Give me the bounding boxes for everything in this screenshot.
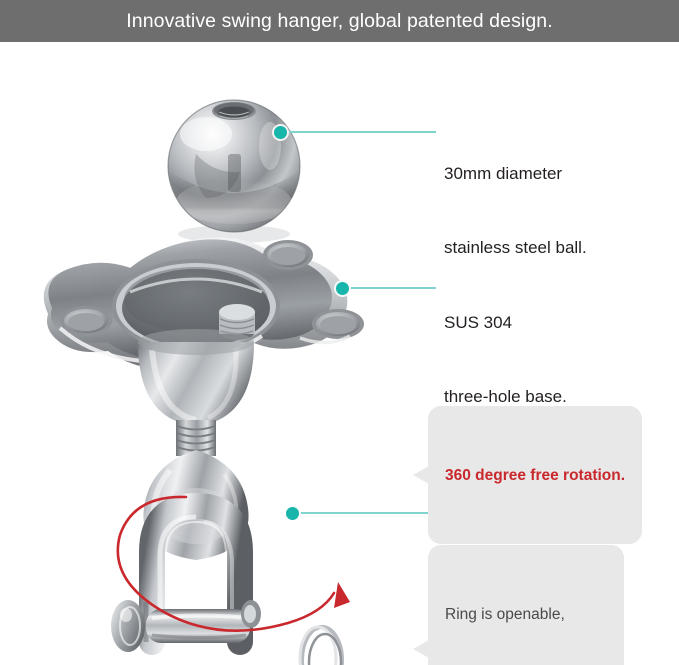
bubble-openable: Ring is openable, no carabiner is needed…	[428, 545, 624, 665]
shackle-pin-end	[241, 600, 261, 628]
leader-line-ring	[300, 512, 436, 514]
leader-dot-ring-icon	[286, 507, 299, 520]
bubble-rotation-line1: 360 degree free rotation.	[445, 464, 625, 487]
bubble-rotation: 360 degree free rotation.	[428, 406, 642, 544]
callout-ball-line1: 30mm diameter	[444, 162, 587, 187]
banner-title: Innovative swing hanger, global patented…	[126, 10, 553, 33]
leader-dot-ball-icon	[274, 126, 287, 139]
rotating-dome-cup	[138, 329, 254, 426]
leader-dot-base-icon	[336, 282, 349, 295]
product-artwork	[0, 42, 420, 665]
stainless-steel-ball	[168, 100, 300, 243]
shackle-pin-cap	[111, 600, 145, 652]
callout-base-line1: SUS 304	[444, 311, 567, 336]
leader-line-ball	[288, 131, 436, 133]
mounting-hole-bottom-right	[312, 309, 364, 339]
product-infographic: Innovative swing hanger, global patented…	[0, 0, 679, 665]
callout-ball-line2: stainless steel ball.	[444, 236, 587, 261]
leader-line-base	[350, 287, 436, 289]
header-banner: Innovative swing hanger, global patented…	[0, 0, 679, 42]
mounting-hole-top-right	[263, 240, 313, 270]
mounting-hole-left	[60, 306, 112, 336]
product-photo-stage	[0, 42, 420, 665]
bubble-openable-line1: Ring is openable,	[445, 603, 607, 626]
split-ring	[300, 627, 342, 665]
